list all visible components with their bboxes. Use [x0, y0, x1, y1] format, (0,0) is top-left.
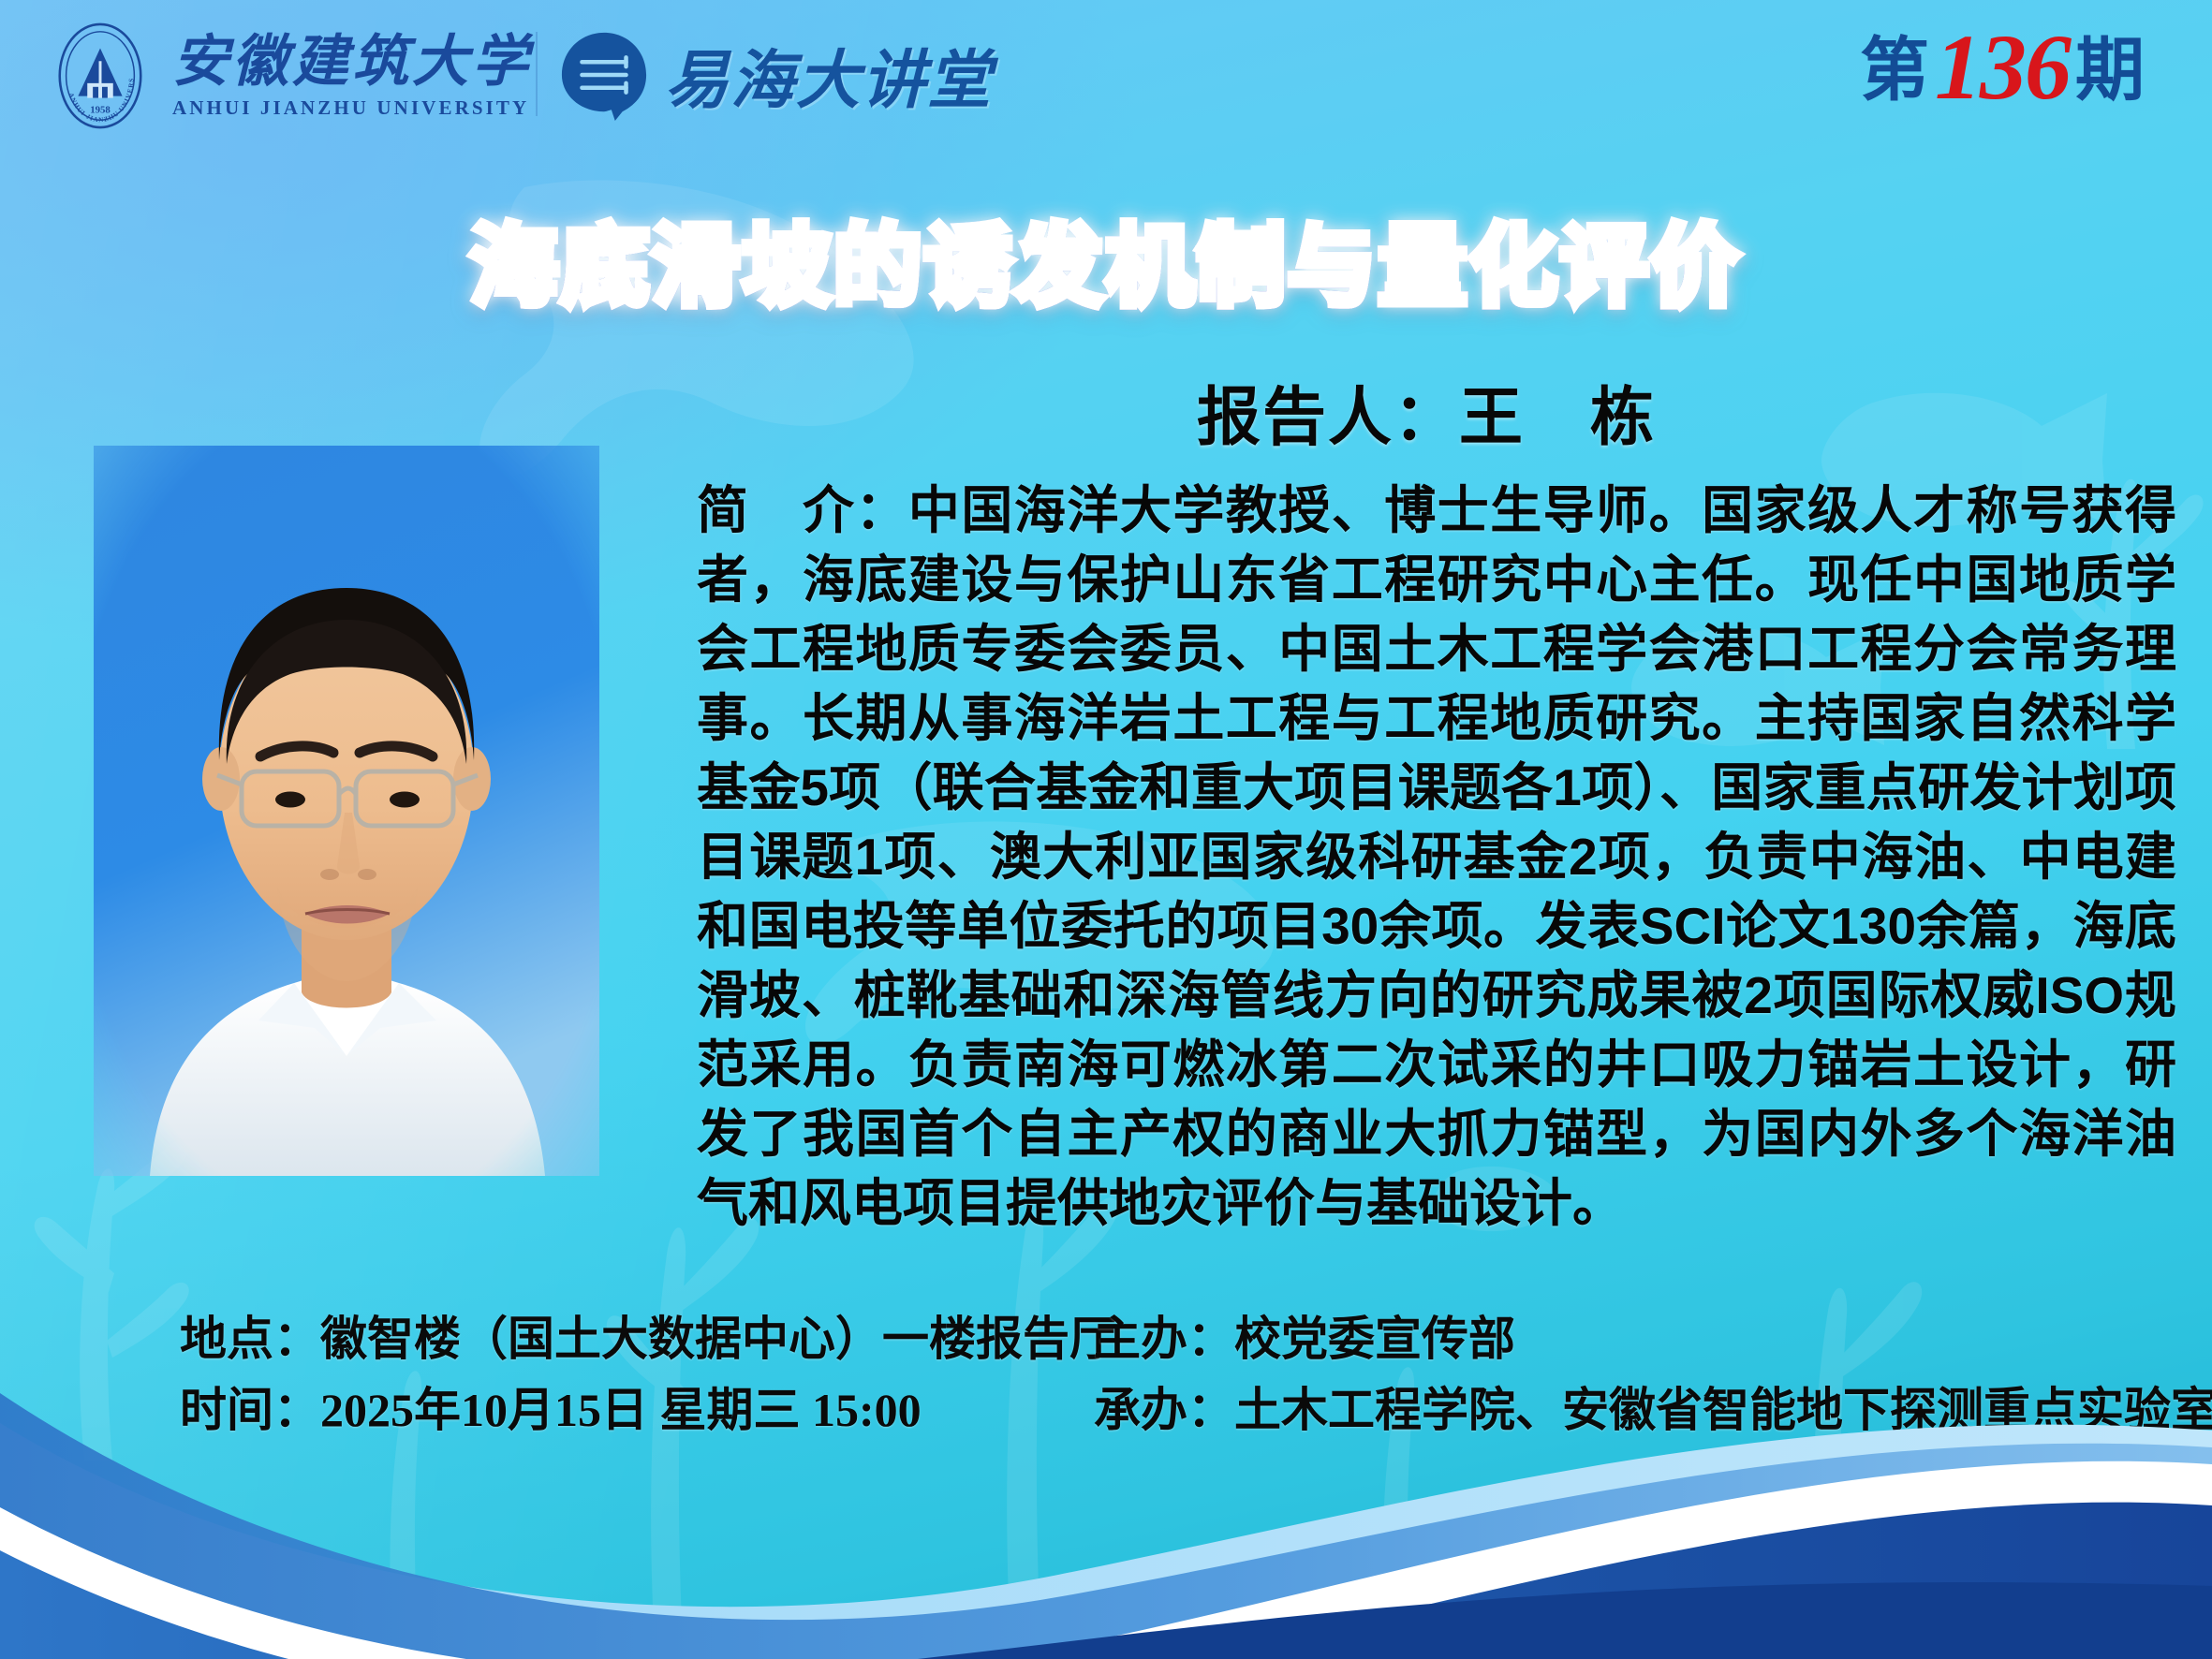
university-name-cn: 安徽建筑大学 [172, 34, 532, 90]
university-seal-icon: 1958 ANHUI JIANZHU UNIVERSITY [45, 21, 155, 131]
issue-suffix: 期 [2075, 36, 2145, 105]
issue-badge: 第 136 期 [1860, 26, 2145, 114]
university-logo: 1958 ANHUI JIANZHU UNIVERSITY 安徽建筑大学 ANH… [45, 21, 532, 131]
issue-prefix: 第 [1860, 36, 1929, 105]
speaker-portrait [94, 446, 599, 1176]
header-divider [536, 32, 538, 116]
bottom-wave-decoration [0, 1350, 2212, 1659]
bio-label: 简 介： [697, 481, 908, 539]
svg-text:1958: 1958 [90, 104, 111, 115]
book-speech-bubble-icon [558, 29, 650, 121]
university-name-en: ANHUI JIANZHU UNIVERSITY [172, 98, 529, 118]
issue-number: 136 [1929, 21, 2075, 114]
lecture-series-brand: 易海大讲堂 [558, 28, 993, 121]
lecture-series-name: 易海大讲堂 [665, 28, 993, 121]
speaker-name-line: 报告人：王 栋 [708, 365, 2145, 458]
bio-text: 中国海洋大学教授、博士生导师。国家级人才称号获得者，海底建设与保护山东省工程研究… [697, 481, 2176, 1232]
poster: 1958 ANHUI JIANZHU UNIVERSITY 安徽建筑大学 ANH… [0, 0, 2212, 1659]
poster-header: 1958 ANHUI JIANZHU UNIVERSITY 安徽建筑大学 ANH… [0, 0, 2212, 154]
speaker-bio: 简 介：中国海洋大学教授、博士生导师。国家级人才称号获得者，海底建设与保护山东省… [697, 476, 2176, 1238]
lecture-title: 海底滑坡的诱发机制与量化评价 [0, 221, 2212, 314]
